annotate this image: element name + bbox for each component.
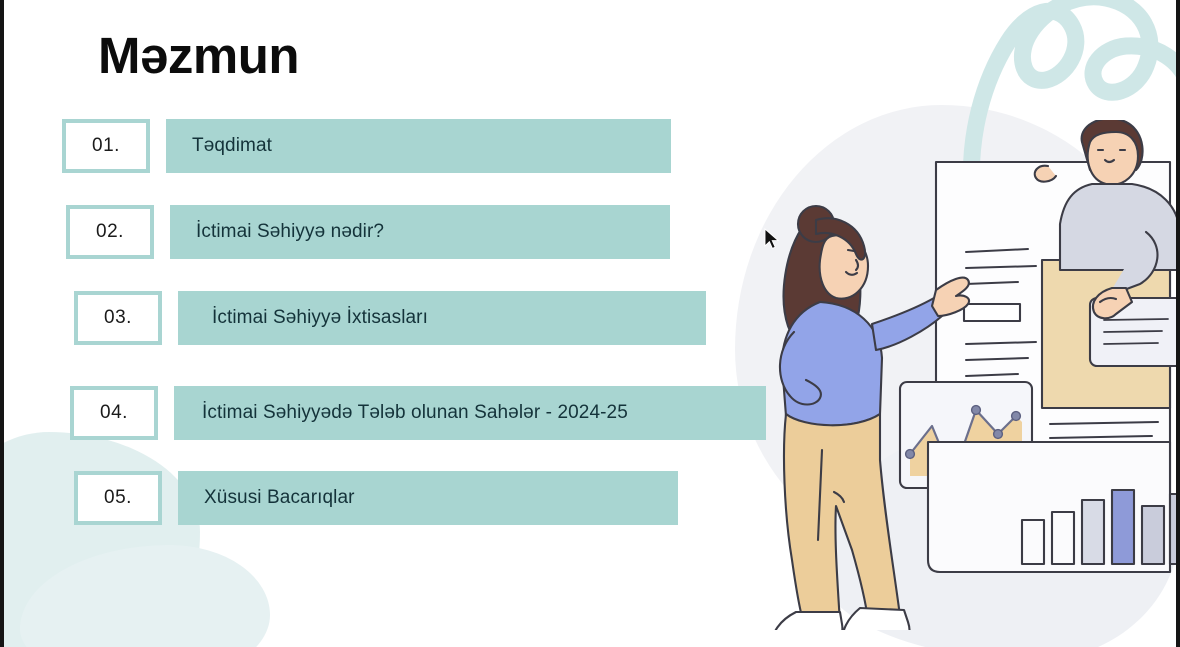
agenda-bar-05: Xüsusi Bacarıqlar bbox=[178, 471, 678, 525]
letterbox-edge-right bbox=[1176, 0, 1180, 647]
mouse-pointer-icon bbox=[764, 228, 780, 250]
agenda-bar-04: İctimai Səhiyyədə Tələb olunan Sahələr -… bbox=[174, 386, 766, 440]
agenda-number-box-05: 05. bbox=[74, 471, 162, 525]
agenda-number-box-02: 02. bbox=[66, 205, 154, 259]
agenda-bar-01: Təqdimat bbox=[166, 119, 671, 173]
agenda-label-01: Təqdimat bbox=[192, 135, 272, 157]
agenda-number-04: 04. bbox=[100, 402, 128, 424]
presentation-slide: Məzmun 01. Təqdimat 02. İctimai Səhiyyə … bbox=[0, 0, 1180, 647]
agenda-number-box-04: 04. bbox=[70, 386, 158, 440]
agenda-label-05: Xüsusi Bacarıqlar bbox=[204, 487, 355, 509]
agenda-number-03: 03. bbox=[104, 307, 132, 329]
agenda-number-box-03: 03. bbox=[74, 291, 162, 345]
agenda-number-01: 01. bbox=[92, 135, 120, 157]
illustration-two-people-presenting bbox=[760, 120, 1180, 630]
agenda-label-03: İctimai Səhiyyə İxtisasları bbox=[212, 307, 428, 329]
letterbox-edge-left bbox=[0, 0, 4, 647]
agenda-number-box-01: 01. bbox=[62, 119, 150, 173]
agenda-number-02: 02. bbox=[96, 221, 124, 243]
agenda-number-05: 05. bbox=[104, 487, 132, 509]
bar-chart-panel-icon bbox=[928, 442, 1180, 572]
agenda-label-02: İctimai Səhiyyə nədir? bbox=[196, 221, 384, 243]
agenda-bar-02: İctimai Səhiyyə nədir? bbox=[170, 205, 670, 259]
agenda-label-04: İctimai Səhiyyədə Tələb olunan Sahələr -… bbox=[202, 402, 628, 424]
page-title: Məzmun bbox=[98, 26, 299, 85]
agenda-bar-03: İctimai Səhiyyə İxtisasları bbox=[178, 291, 706, 345]
